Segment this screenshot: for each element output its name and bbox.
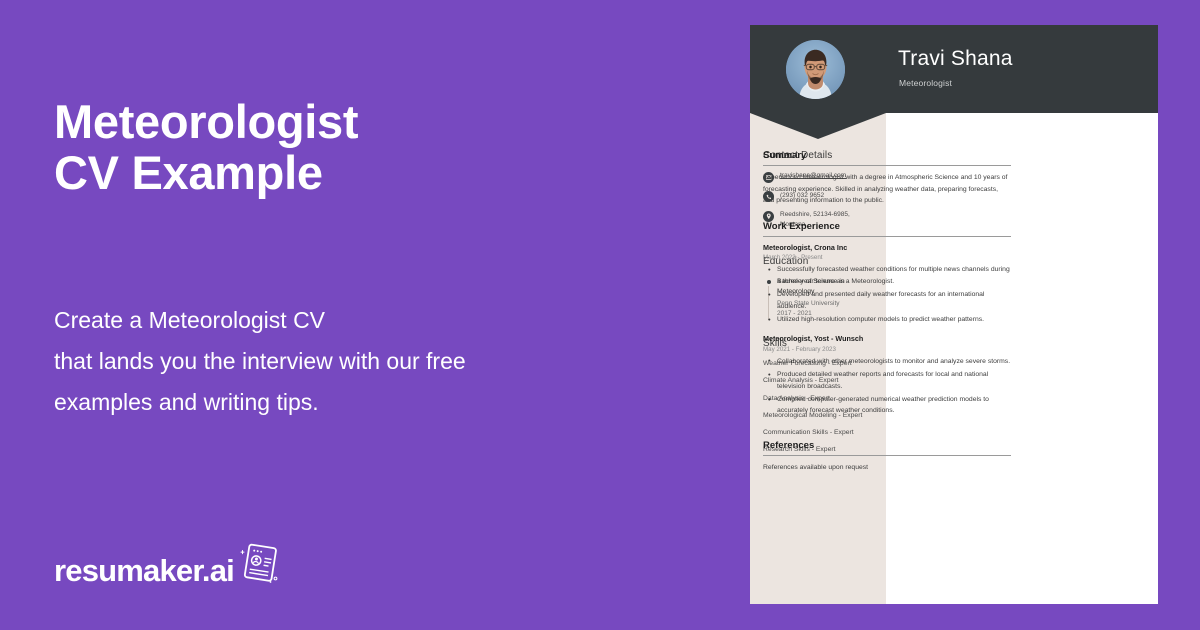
work-job-title: Meteorologist, Crona Inc [763,243,1011,253]
work-bullet: Compiled computer-generated numerical we… [777,394,1011,417]
work-job-date: March 2023 - Present [763,253,1011,262]
work-bullet: Produced detailed weather reports and fo… [777,369,1011,392]
work-bullet: Collaborated with other meteorologists t… [777,356,1011,367]
cv-person-name: Travi Shana [898,47,1013,71]
resumaker-logo[interactable]: resumaker.ai [54,552,279,589]
subtext-line-3: examples and writing tips. [54,382,694,423]
subtext-line-1: Create a Meteorologist CV [54,300,694,341]
work-job-title: Meteorologist, Yost - Wunsch [763,334,1011,344]
references-heading: References [763,440,1011,456]
work-bullet: Successfully forecasted weather conditio… [777,264,1011,287]
references-text: References available upon request [763,462,1011,474]
work-entry: Meteorologist, Yost - Wunsch May 2021 - … [763,334,1011,416]
work-bullet-list: Collaborated with other meteorologists t… [763,356,1011,417]
summary-text: Experienced Meteorologist with a degree … [763,172,1011,207]
cv-preview-card[interactable]: Travi Shana Meteorologist Contact Detail… [750,25,1158,604]
promo-panel: Meteorologist CV Example Create a Meteor… [0,0,740,630]
page-title: Meteorologist CV Example [54,96,674,198]
summary-heading: Summary [763,150,1011,166]
cv-person-role: Meteorologist [899,78,952,88]
resume-document-icon [239,540,279,589]
work-bullet: Developed and presented daily weather fo… [777,289,1011,312]
work-experience-heading: Work Experience [763,221,1011,237]
work-job-date: May 2021 - February 2023 [763,345,1011,354]
logo-wordmark: resumaker.ai [54,553,234,589]
headline-line-1: Meteorologist [54,96,674,147]
work-entry: Meteorologist, Crona Inc March 2023 - Pr… [763,243,1011,325]
work-bullet: Utilized high-resolution computer models… [777,314,1011,325]
promo-subtext: Create a Meteorologist CV that lands you… [54,300,694,423]
subtext-line-2: that lands you the interview with our fr… [54,341,694,382]
cv-main-content: Summary Experienced Meteorologist with a… [763,150,1011,474]
headline-line-2: CV Example [54,147,674,198]
work-bullet-list: Successfully forecasted weather conditio… [763,264,1011,325]
avatar [786,40,845,99]
